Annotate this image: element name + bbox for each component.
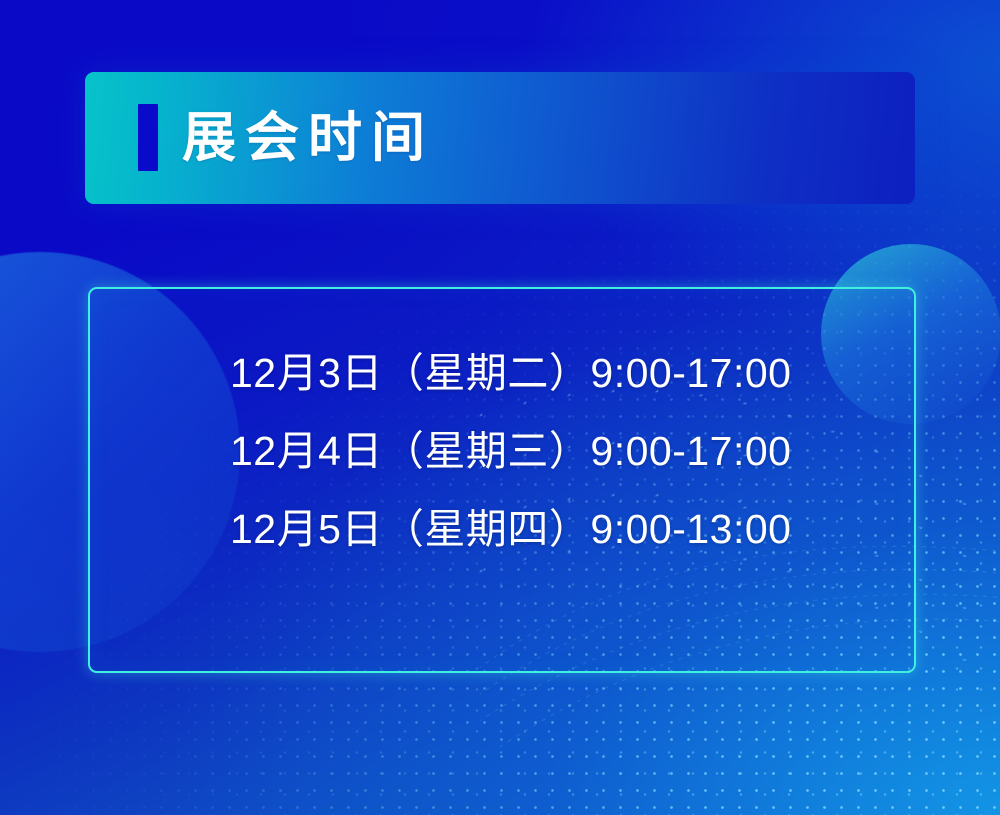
header-banner: 展会时间 (85, 72, 915, 204)
schedule-box: 12月3日（星期二）9:00-17:00 12月4日（星期三）9:00-17:0… (88, 287, 916, 673)
schedule-line: 12月5日（星期四）9:00-13:00 (230, 508, 874, 550)
poster-canvas: 展会时间 12月3日（星期二）9:00-17:00 12月4日（星期三）9:00… (0, 0, 1000, 815)
page-title: 展会时间 (182, 93, 434, 183)
schedule-line: 12月4日（星期三）9:00-17:00 (230, 430, 874, 472)
banner-accent-bar (138, 104, 158, 171)
schedule-list: 12月3日（星期二）9:00-17:00 12月4日（星期三）9:00-17:0… (230, 352, 874, 550)
schedule-line: 12月3日（星期二）9:00-17:00 (230, 352, 874, 394)
